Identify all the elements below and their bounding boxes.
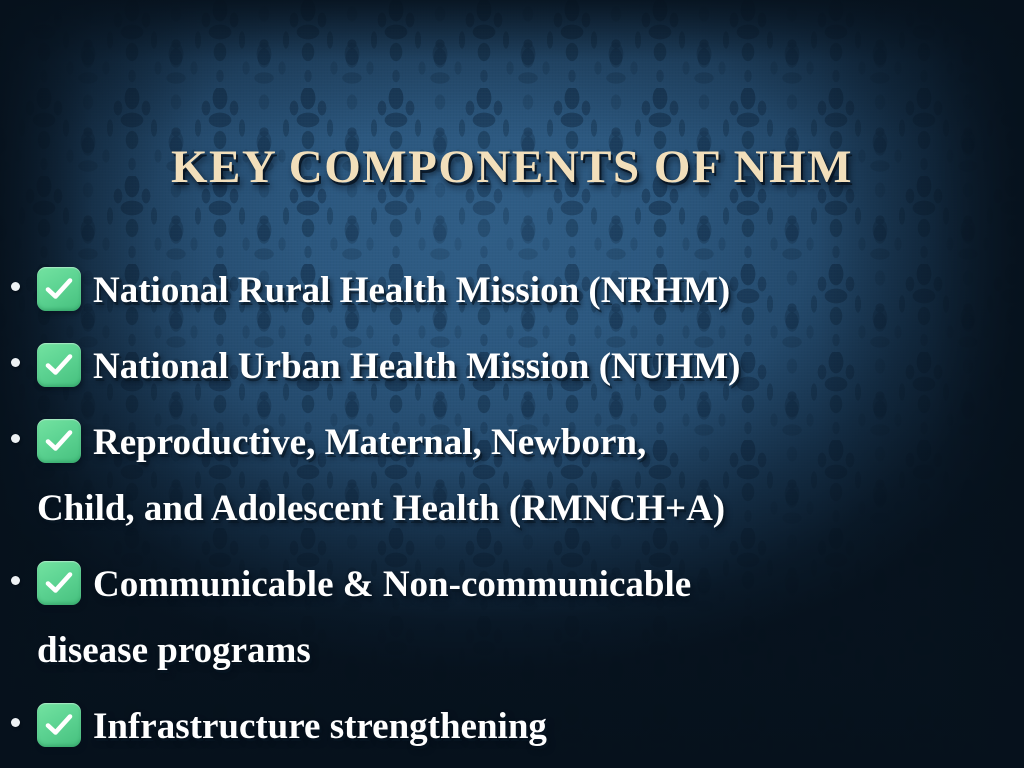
check-mark-button-icon: [37, 267, 81, 311]
list-item: Communicable & Non-communicable disease …: [0, 552, 1024, 684]
bullet-list: National Rural Health Mission (NRHM) Nat…: [0, 258, 1024, 768]
bullet-body: Infrastructure strengthening: [37, 694, 1024, 760]
bullet-body: National Rural Health Mission (NRHM): [37, 258, 1024, 324]
check-mark-button-icon: [37, 343, 81, 387]
bullet-body: National Urban Health Mission (NUHM): [37, 334, 1024, 400]
bullet-dot-icon: [11, 718, 20, 727]
check-mark-button-icon: [37, 561, 81, 605]
slide-content: Key Components of NHM National Rural Hea…: [0, 0, 1024, 768]
list-item: Infrastructure strengthening: [0, 694, 1024, 760]
bullet-line: Reproductive, Maternal, Newborn,: [93, 422, 646, 463]
bullet-line-wrap: disease programs: [37, 618, 1024, 684]
bullet-line: Communicable & Non-communicable: [93, 564, 691, 605]
bullet-body: Reproductive, Maternal, Newborn, Child, …: [37, 410, 1024, 542]
bullet-dot-icon: [11, 576, 20, 585]
list-item: Reproductive, Maternal, Newborn, Child, …: [0, 410, 1024, 542]
bullet-dot-icon: [11, 358, 20, 367]
list-item: National Urban Health Mission (NUHM): [0, 334, 1024, 400]
presentation-slide: Key Components of NHM National Rural Hea…: [0, 0, 1024, 768]
bullet-dot-icon: [11, 282, 20, 291]
check-mark-button-icon: [37, 419, 81, 463]
bullet-line: National Urban Health Mission (NUHM): [93, 346, 741, 387]
bullet-dot-icon: [11, 434, 20, 443]
list-item: National Rural Health Mission (NRHM): [0, 258, 1024, 324]
bullet-line: Infrastructure strengthening: [93, 706, 547, 747]
bullet-body: Communicable & Non-communicable disease …: [37, 552, 1024, 684]
check-mark-button-icon: [37, 703, 81, 747]
bullet-line-wrap: Child, and Adolescent Health (RMNCH+A): [37, 476, 1024, 542]
bullet-line: National Rural Health Mission (NRHM): [93, 270, 730, 311]
slide-title: Key Components of NHM: [0, 143, 1024, 192]
